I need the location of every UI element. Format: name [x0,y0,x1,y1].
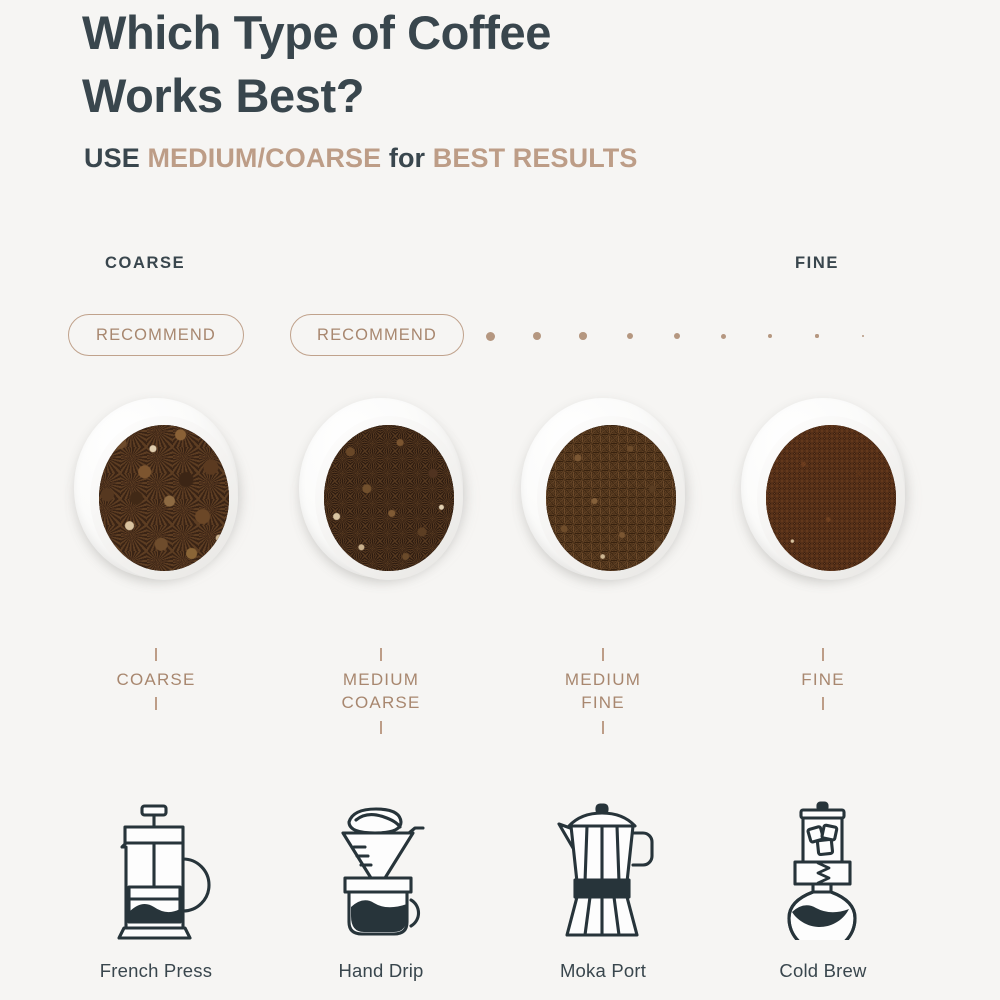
hand-drip-icon [281,795,481,940]
tick-top [822,648,824,661]
cup-body [741,398,905,578]
grind-scale-dot-4[interactable] [627,333,634,340]
device-hand-drip[interactable]: Hand Drip [281,795,481,982]
grind-name: COARSE [56,668,256,691]
coffee-grounds [546,425,676,571]
subtitle-result: BEST RESULTS [433,143,638,173]
grind-name: FINE [723,668,923,691]
tick-top [380,648,382,661]
subtitle-grind: MEDIUM/COARSE [147,143,381,173]
device-name: Cold Brew [723,960,923,982]
french-press-icon [56,795,256,940]
moka-pot-icon [503,795,703,940]
tick-bottom [380,721,382,734]
device-moka-pot[interactable]: Moka Port [503,795,703,982]
subtitle: USE MEDIUM/COARSE for BEST RESULTS [84,143,637,174]
device-name: Moka Port [503,960,703,982]
headline-line-1: Which Type of Coffee [82,2,702,65]
tick-bottom [602,721,604,734]
recommend-badge-medium-coarse[interactable]: RECOMMEND [290,314,464,356]
tick-top [155,648,157,661]
coffee-grounds [766,425,896,571]
coffee-cup-medfine [513,388,693,588]
grind-scale-dot-6[interactable] [721,334,726,339]
tick-bottom [822,697,824,710]
grind-scale-dot-5[interactable] [674,333,680,339]
cup-body [299,398,463,578]
device-cold-brew[interactable]: Cold Brew [723,795,923,982]
grind-name: MEDIUM COARSE [281,668,481,715]
grind-scale-dot-9[interactable] [862,335,865,338]
grind-name: MEDIUM FINE [503,668,703,715]
device-name: French Press [56,960,256,982]
coffee-cup-coarse [66,388,246,588]
cup-body [521,398,685,578]
grind-label-fine: FINE [723,648,923,710]
page-title: Which Type of Coffee Works Best? [82,2,702,127]
subtitle-use: USE [84,143,140,173]
grind-scale-dot-2[interactable] [533,332,541,340]
tick-top [602,648,604,661]
device-name: Hand Drip [281,960,481,982]
grind-scale-dot-7[interactable] [768,334,772,338]
grind-scale-dot-1[interactable] [486,332,495,341]
cold-brew-icon [723,795,923,940]
coffee-cup-medcoarse [291,388,471,588]
grind-scale-dot-3[interactable] [579,332,587,340]
grind-label-coarse: COARSE [56,648,256,710]
tick-bottom [155,697,157,710]
recommend-badge-coarse[interactable]: RECOMMEND [68,314,244,356]
cup-body [74,398,238,578]
coffee-grounds [324,425,454,571]
scale-label-fine: FINE [795,254,839,273]
grind-label-medium-fine: MEDIUM FINE [503,648,703,734]
coffee-cup-fine [733,388,913,588]
grind-label-medium-coarse: MEDIUM COARSE [281,648,481,734]
subtitle-for: for [389,143,425,173]
grind-scale-dot-8[interactable] [815,334,818,337]
infographic-canvas: Which Type of Coffee Works Best? USE MED… [0,0,1000,1000]
device-french-press[interactable]: French Press [56,795,256,982]
headline-line-2: Works Best? [82,65,702,128]
scale-label-coarse: COARSE [105,254,185,273]
coffee-grounds [99,425,229,571]
